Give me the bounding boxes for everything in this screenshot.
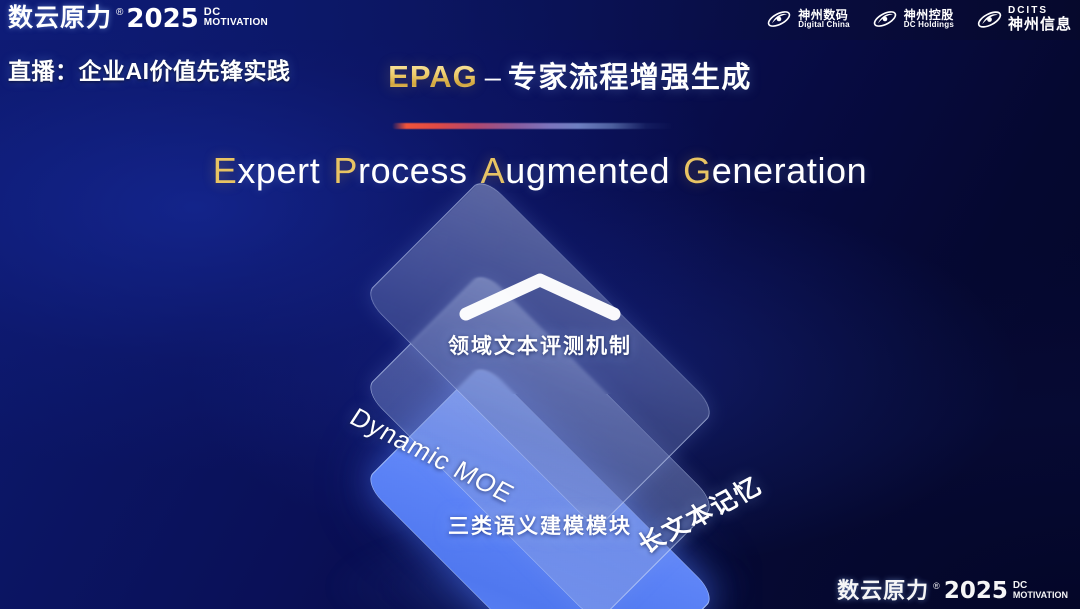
heading-capital: E — [213, 150, 238, 191]
heading-word-expert: Expert — [213, 150, 321, 191]
partner-name-en: DCITS — [1008, 6, 1072, 17]
brand-chinese-name: 数云原力 — [837, 580, 929, 602]
heading-word-process: Process — [333, 150, 467, 191]
heading-rest: ugmented — [505, 150, 670, 191]
title-dash: – — [485, 62, 501, 94]
brand-year: 2025 — [126, 6, 198, 32]
page-title: EPAG–专家流程增强生成 — [0, 54, 1080, 96]
layer-stack-diagram: 领域文本评测机制 Dynamic MOE 长文本记忆 三类语义建模模块 — [283, 222, 797, 578]
swirl-icon — [766, 7, 792, 31]
heading-word-generation: Generation — [683, 150, 867, 191]
brand-motivation-label: MOTIVATION — [1013, 591, 1068, 600]
brand-registered-mark: ® — [116, 8, 123, 18]
partner-name-en: DC Holdings — [904, 21, 954, 29]
gradient-divider — [392, 123, 674, 129]
expanded-acronym-heading: ExpertProcessAugmentedGeneration — [0, 150, 1080, 192]
heading-rest: xpert — [237, 150, 320, 191]
heading-capital: P — [333, 150, 358, 191]
brand-year: 2025 — [944, 580, 1008, 603]
title-acronym: EPAG — [388, 59, 478, 94]
swirl-icon — [976, 7, 1002, 31]
partner-logo-dc-holdings: 神州控股 DC Holdings — [872, 7, 954, 31]
swirl-icon — [872, 7, 898, 31]
brand-registered-mark: ® — [933, 582, 940, 591]
partner-name-cn: 神州信息 — [1008, 17, 1072, 33]
partner-logo-text: DCITS 神州信息 — [1008, 6, 1072, 32]
heading-rest: rocess — [358, 150, 468, 191]
brand-dc-motivation: DC MOTIVATION — [204, 7, 268, 28]
brand-motivation-label: MOTIVATION — [204, 18, 268, 28]
brand-dc-motivation: DC MOTIVATION — [1013, 581, 1068, 600]
heading-capital: G — [683, 150, 712, 191]
partner-logo-text: 神州数码 Digital China — [798, 9, 850, 30]
partner-name-en: Digital China — [798, 21, 850, 29]
partner-logo-text: 神州控股 DC Holdings — [904, 9, 954, 30]
brand-logo-top: 数云原力 ® 2025 DC MOTIVATION — [8, 6, 268, 32]
partner-logo-dcits: DCITS 神州信息 — [976, 6, 1072, 32]
brand-logo-watermark: 数云原力 ® 2025 DC MOTIVATION — [837, 580, 1068, 603]
heading-rest: eneration — [712, 150, 868, 191]
title-chinese: 专家流程增强生成 — [508, 62, 752, 94]
heading-word-augmented: Augmented — [481, 150, 671, 191]
partner-logo-group: 神州数码 Digital China 神州控股 DC Holdings — [766, 6, 1072, 32]
brand-chinese-name: 数云原力 — [8, 6, 112, 31]
slide-canvas: 数云原力 ® 2025 DC MOTIVATION 直播：企业AI价值先锋实践 … — [0, 0, 1080, 609]
partner-logo-digital-china: 神州数码 Digital China — [766, 7, 850, 31]
